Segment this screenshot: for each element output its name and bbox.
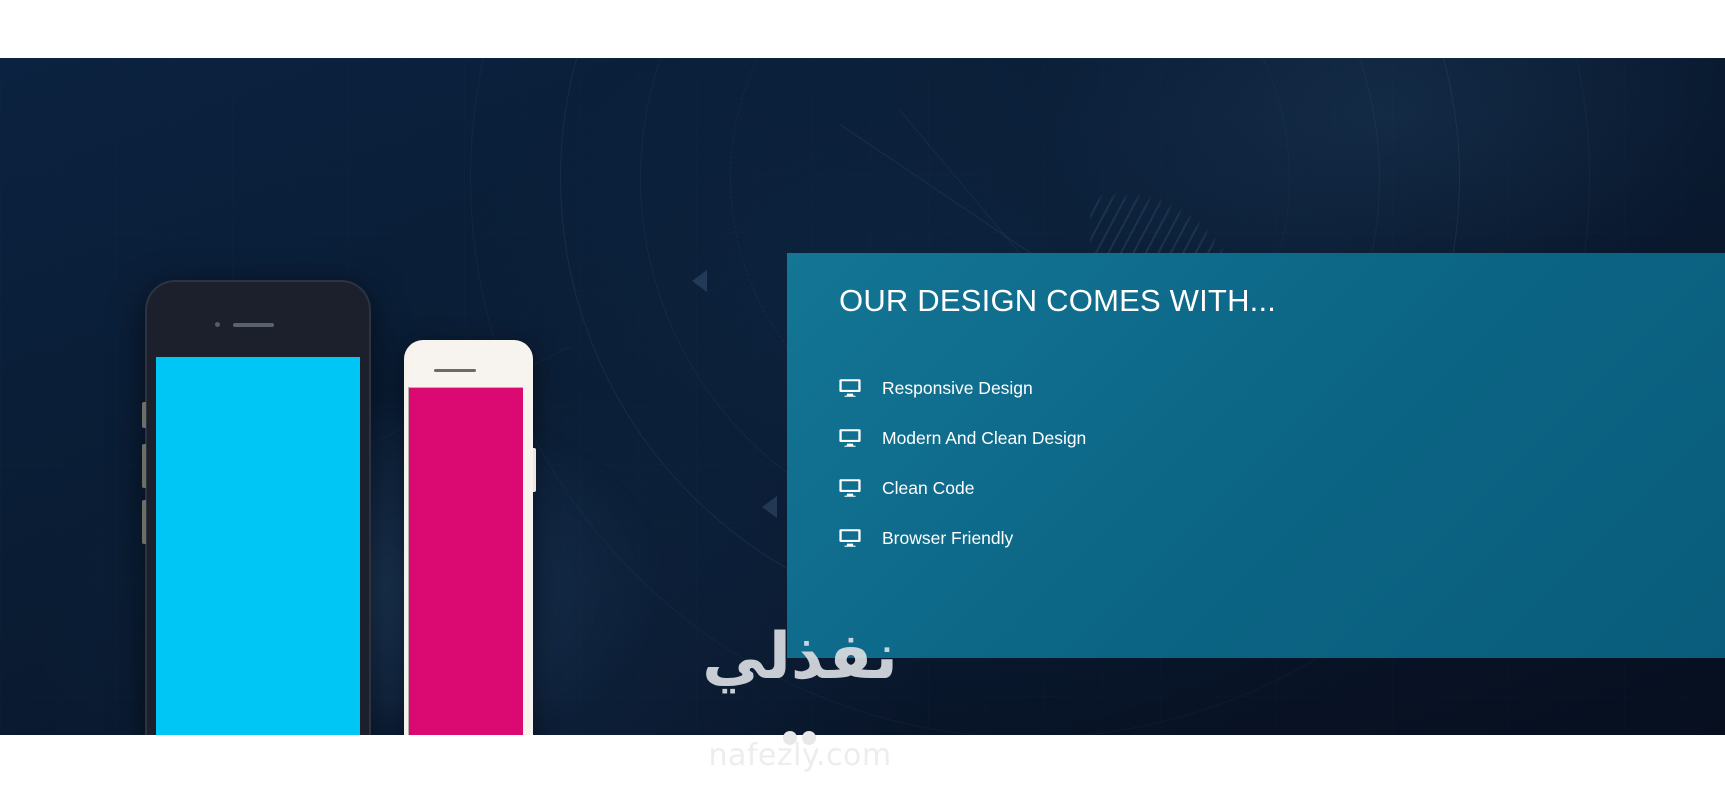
dark-phone-volume-up-button xyxy=(142,444,146,488)
feature-label: Clean Code xyxy=(882,478,974,499)
top-white-strip xyxy=(0,0,1725,58)
dark-phone-speaker xyxy=(233,323,274,327)
monitor-icon xyxy=(839,527,861,549)
hero-section: OUR DESIGN COMES WITH... Responsive Desi… xyxy=(0,58,1725,735)
dark-phone-volume-down-button xyxy=(142,500,146,544)
feature-label: Modern And Clean Design xyxy=(882,428,1086,449)
list-item[interactable]: Responsive Design xyxy=(839,363,1086,413)
decorative-triangle-2 xyxy=(762,496,777,518)
white-phone-screen xyxy=(408,387,523,735)
dark-phone-screen xyxy=(156,357,360,735)
bottom-white-strip xyxy=(0,735,1725,787)
white-phone-mockup xyxy=(404,340,533,735)
dark-phone-mockup xyxy=(145,280,371,735)
list-item[interactable]: Clean Code xyxy=(839,463,1086,513)
features-panel: OUR DESIGN COMES WITH... Responsive Desi… xyxy=(787,253,1725,658)
page-root: OUR DESIGN COMES WITH... Responsive Desi… xyxy=(0,0,1725,787)
feature-label: Browser Friendly xyxy=(882,528,1013,549)
dark-phone-camera xyxy=(215,322,220,327)
feature-list: Responsive Design Modern And Clean Desig… xyxy=(839,363,1086,563)
monitor-icon xyxy=(839,477,861,499)
monitor-icon xyxy=(839,377,861,399)
list-item[interactable]: Modern And Clean Design xyxy=(839,413,1086,463)
white-phone-speaker xyxy=(434,369,476,372)
feature-label: Responsive Design xyxy=(882,378,1033,399)
list-item[interactable]: Browser Friendly xyxy=(839,513,1086,563)
dark-phone-mute-button xyxy=(142,402,146,428)
decorative-triangle-1 xyxy=(692,270,707,292)
white-phone-side-button xyxy=(533,448,536,492)
phone-mockups xyxy=(0,58,620,735)
monitor-icon xyxy=(839,427,861,449)
page-title: OUR DESIGN COMES WITH... xyxy=(839,283,1276,319)
